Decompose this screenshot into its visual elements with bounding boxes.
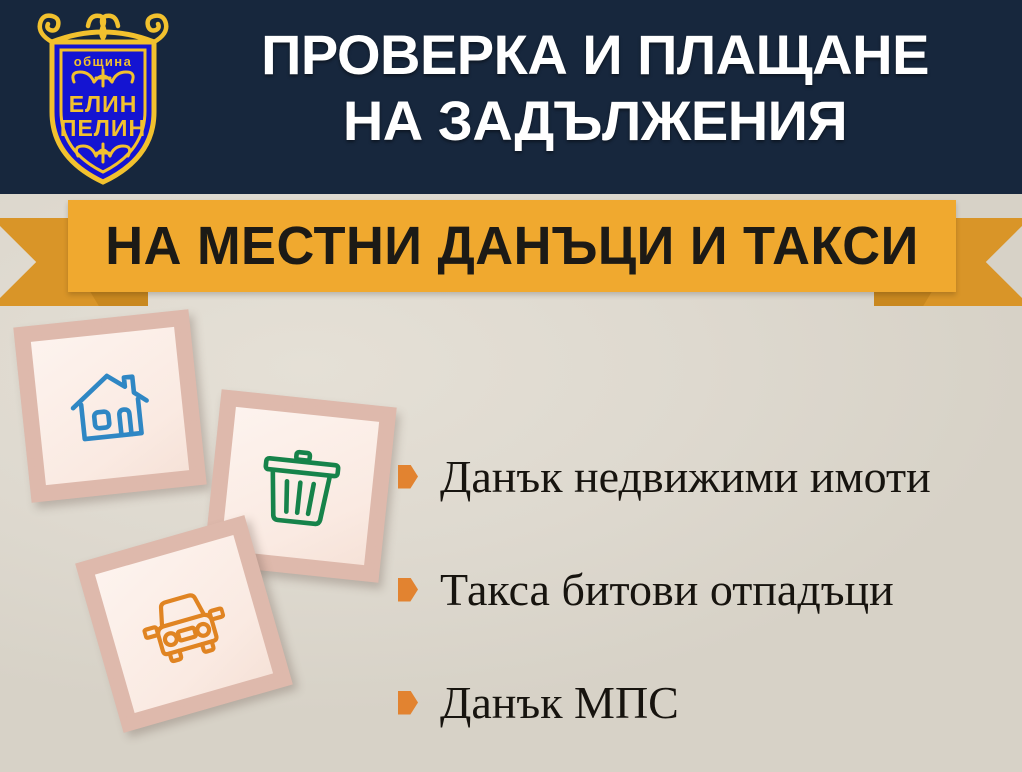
poster-canvas: ПРОВЕРКА И ПЛАЩАНЕ НА ЗАДЪЛЖЕНИЯ община — [0, 0, 1022, 772]
crest-name-line-2: ПЕЛИН — [60, 115, 146, 141]
page-title: ПРОВЕРКА И ПЛАЩАНЕ НА ЗАДЪЛЖЕНИЯ — [190, 22, 1000, 154]
trash-bin-icon — [254, 440, 346, 532]
service-label: Такса битови отпадъци — [440, 563, 894, 616]
crest-name-line-1: ЕЛИН — [69, 91, 138, 117]
arrow-bullet-icon — [398, 578, 418, 602]
arrow-bullet-icon — [398, 691, 418, 715]
ribbon-band: НА МЕСТНИ ДАНЪЦИ И ТАКСИ — [68, 200, 956, 292]
page-title-line-2: НА ЗАДЪЛЖЕНИЯ — [190, 88, 1000, 154]
service-label: Данък недвижими имоти — [440, 450, 931, 503]
car-front-icon — [132, 572, 236, 676]
stamp-card-house — [13, 309, 206, 502]
page-title-line-1: ПРОВЕРКА И ПЛАЩАНЕ — [190, 22, 1000, 88]
service-label: Данък МПС — [440, 676, 679, 729]
list-item[interactable]: Данък недвижими имоти — [398, 420, 1008, 533]
list-item[interactable]: Такса битови отпадъци — [398, 533, 1008, 646]
coat-of-arms: община ЕЛИН ПЕЛИН — [30, 8, 176, 190]
list-item[interactable]: Данък МПС — [398, 646, 1008, 759]
crest-community-label: община — [74, 54, 132, 69]
service-list: Данък недвижими имоти Такса битови отпад… — [398, 420, 1008, 759]
stamp-paper — [31, 327, 189, 485]
ribbon-banner: НА МЕСТНИ ДАНЪЦИ И ТАКСИ — [0, 196, 1022, 310]
arrow-bullet-icon — [398, 465, 418, 489]
ribbon-label: НА МЕСТНИ ДАНЪЦИ И ТАКСИ — [81, 200, 942, 292]
house-icon — [64, 360, 156, 452]
